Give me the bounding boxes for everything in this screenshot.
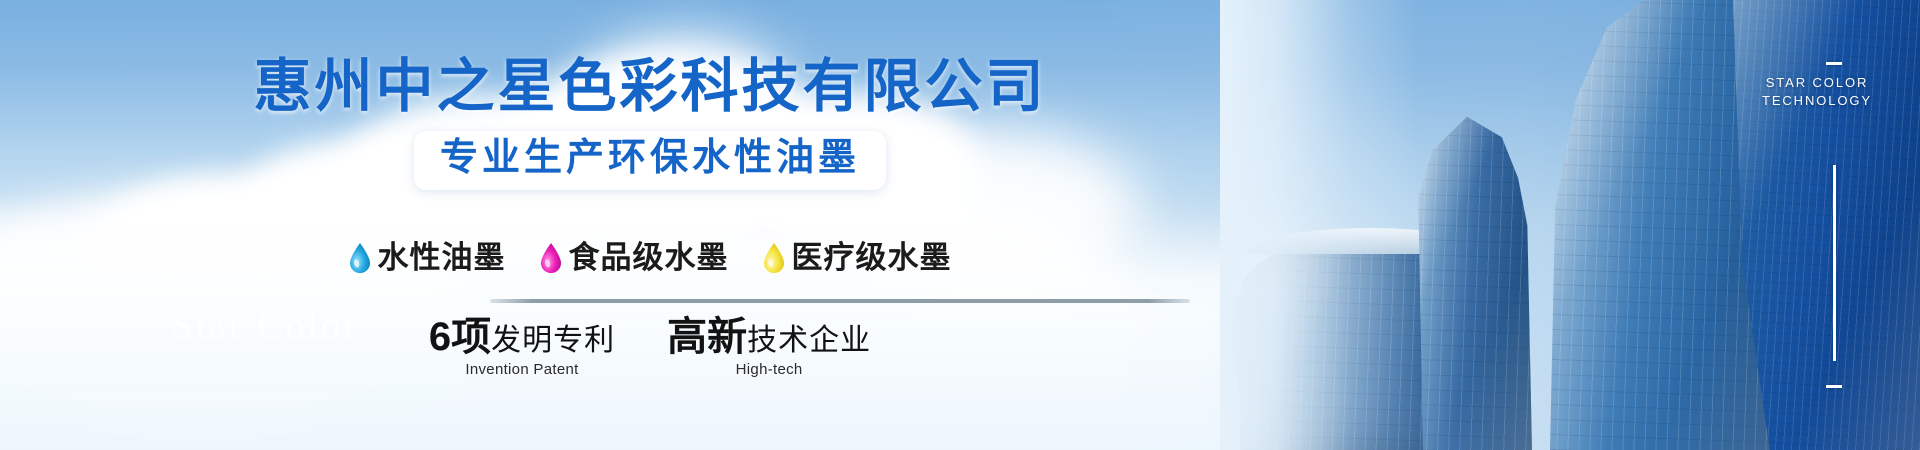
water-drop-icon bbox=[763, 243, 785, 273]
company-title: 惠州中之星色彩科技有限公司 bbox=[0, 58, 1300, 116]
award-rest: 发明专利 bbox=[491, 324, 615, 357]
award-chinese-label: 高新技术企业 bbox=[667, 316, 871, 358]
award-highlight: 高新 bbox=[667, 315, 747, 359]
water-drop-icon bbox=[540, 243, 562, 273]
banner-content: 惠州中之星色彩科技有限公司 专业生产环保水性油墨 水性油墨 bbox=[0, 0, 1300, 450]
feature-label: 医疗级水墨 bbox=[792, 242, 952, 273]
water-drop-icon bbox=[349, 243, 371, 273]
brand-tick-top bbox=[1826, 62, 1842, 65]
tower-brand-line1: STAR COLOR bbox=[1762, 74, 1872, 92]
feature-item-medical-grade-ink: 医疗级水墨 bbox=[763, 242, 952, 273]
award-highlight: 6项 bbox=[429, 315, 491, 359]
tower-brand-line2: TECHNOLOGY bbox=[1762, 92, 1872, 110]
tower-brand-mark: STAR COLOR TECHNOLOGY bbox=[1762, 74, 1872, 111]
award-rest: 技术企业 bbox=[747, 324, 871, 357]
award-item-high-tech: 高新技术企业 High-tech bbox=[667, 316, 871, 378]
feature-list: 水性油墨 食品级水墨 bbox=[0, 242, 1300, 273]
skyscrapers-photo bbox=[1220, 0, 1920, 450]
award-chinese-label: 6项发明专利 bbox=[429, 316, 615, 358]
award-list: 6项发明专利 Invention Patent 高新技术企业 High-tech bbox=[0, 316, 1300, 378]
award-item-invention-patent: 6项发明专利 Invention Patent bbox=[429, 316, 615, 378]
building-curved-tower bbox=[1416, 110, 1532, 450]
brand-tick-bottom bbox=[1826, 385, 1842, 388]
feature-item-water-based-ink: 水性油墨 bbox=[349, 242, 506, 273]
award-english-label: High-tech bbox=[667, 361, 871, 378]
award-english-label: Invention Patent bbox=[429, 361, 615, 378]
feature-label: 食品级水墨 bbox=[569, 242, 729, 273]
company-hero-banner: Star Color STAR COLOR TECHNOLOGY 惠州中之星色彩… bbox=[0, 0, 1920, 450]
tagline-badge-wrapper: 专业生产环保水性油墨 bbox=[0, 131, 1300, 190]
feature-label: 水性油墨 bbox=[378, 242, 506, 273]
tagline-badge: 专业生产环保水性油墨 bbox=[414, 131, 886, 190]
brand-vertical-rule bbox=[1833, 165, 1836, 361]
feature-item-food-grade-ink: 食品级水墨 bbox=[540, 242, 729, 273]
section-divider bbox=[490, 299, 1190, 303]
